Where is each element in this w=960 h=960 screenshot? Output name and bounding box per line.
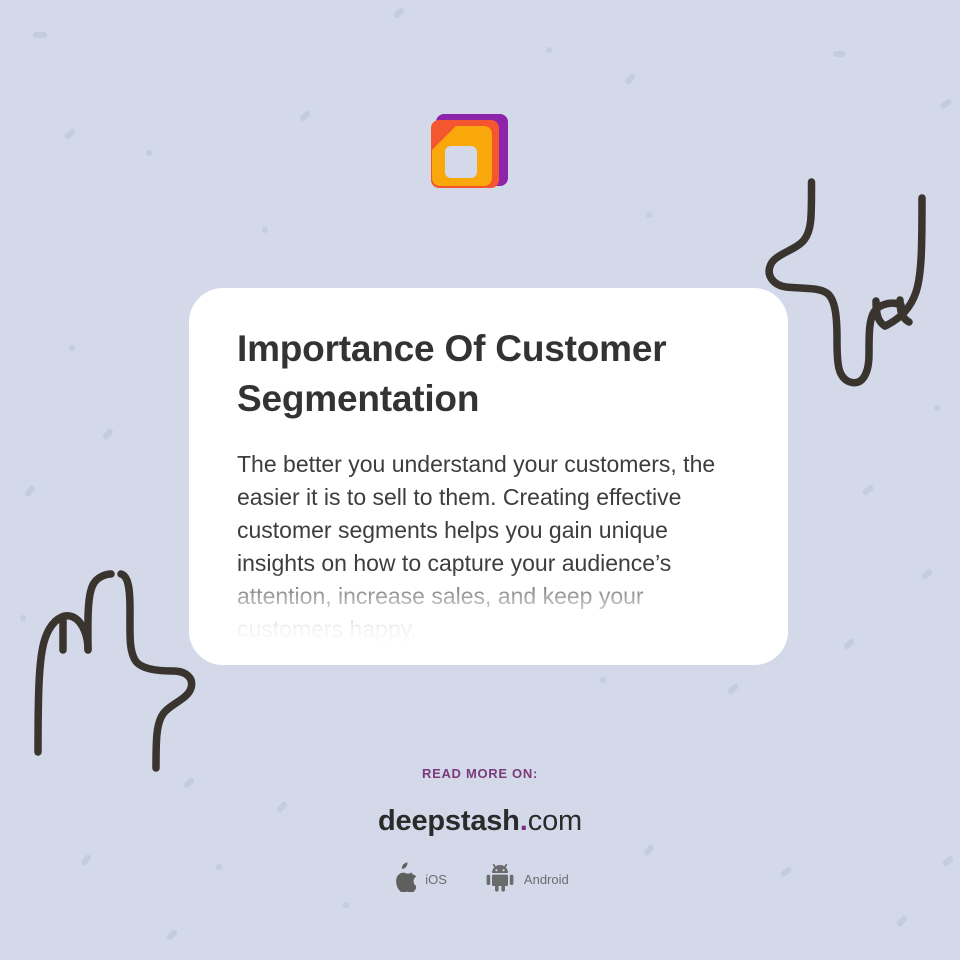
card-inner: Importance Of Customer Segmentation The …: [189, 288, 788, 646]
deepstash-wordmark[interactable]: deepstash.com: [0, 807, 960, 836]
android-icon: [485, 862, 515, 897]
confetti-mark: [843, 638, 856, 651]
confetti-mark: [646, 212, 652, 218]
store-badges: iOS: [0, 862, 960, 897]
poster-canvas: Importance Of Customer Segmentation The …: [0, 0, 960, 960]
ios-label: iOS: [425, 872, 447, 887]
content-card: Importance Of Customer Segmentation The …: [189, 288, 788, 665]
confetti-mark: [546, 47, 552, 53]
confetti-mark: [600, 677, 606, 683]
confetti-mark: [165, 929, 178, 941]
confetti-mark: [833, 51, 845, 57]
confetti-mark: [299, 110, 312, 123]
read-more-label: READ MORE ON:: [0, 766, 960, 781]
confetti-mark: [392, 7, 405, 19]
confetti-mark: [896, 915, 908, 928]
confetti-mark: [69, 345, 75, 351]
confetti-mark: [727, 683, 739, 696]
confetti-mark: [33, 32, 47, 38]
wordmark-tld: com: [528, 805, 582, 837]
confetti-mark: [64, 128, 77, 140]
footer: READ MORE ON: deepstash.com iOS: [0, 766, 960, 897]
confetti-mark: [921, 568, 934, 580]
wordmark-name: deepstash: [378, 805, 520, 837]
confetti-mark: [102, 428, 114, 441]
ios-badge[interactable]: iOS: [391, 862, 447, 897]
confetti-mark: [624, 72, 636, 85]
deepstash-logo: [430, 104, 516, 198]
confetti-mark: [861, 484, 874, 496]
confetti-mark: [934, 405, 940, 411]
confetti-mark: [24, 484, 36, 497]
page-title: Importance Of Customer Segmentation: [237, 324, 740, 424]
confetti-mark: [20, 615, 26, 621]
confetti-mark: [939, 98, 952, 110]
confetti-mark: [343, 902, 349, 908]
apple-icon: [391, 862, 416, 897]
confetti-mark: [262, 227, 268, 233]
card-body-text: The better you understand your customers…: [237, 448, 740, 646]
wordmark-dot: .: [520, 805, 528, 837]
android-label: Android: [524, 872, 569, 887]
confetti-mark: [146, 150, 152, 156]
pointing-hand-up-icon: [18, 552, 218, 787]
android-badge[interactable]: Android: [485, 862, 569, 897]
